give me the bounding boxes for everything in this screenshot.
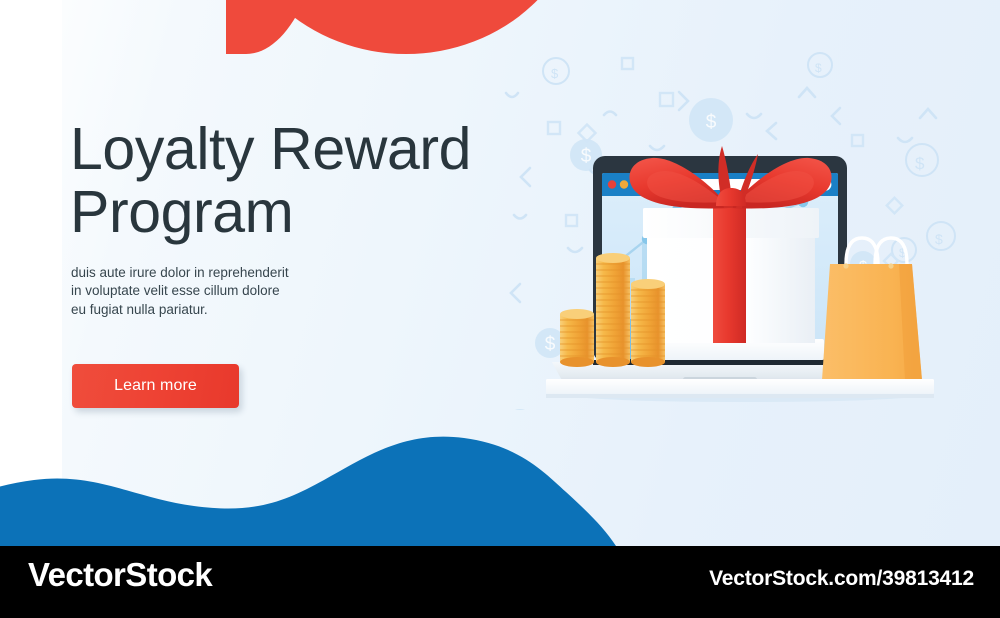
page-title: Loyalty Reward Program (70, 118, 500, 244)
gift-ribbon-vertical (713, 208, 746, 343)
body-line-2: in voluptate velit esse cillum dolore (71, 282, 331, 300)
coin-stack-middle (596, 253, 630, 367)
browser-dot-red (608, 180, 616, 188)
shelf-edge (546, 394, 934, 398)
shelf (546, 379, 934, 398)
svg-text:$: $ (551, 66, 559, 81)
bag-eyelet-right (888, 263, 893, 268)
gift-box (643, 208, 819, 343)
svg-text:$: $ (545, 334, 556, 355)
vectorstock-url: VectorStock.com/39813412 (709, 567, 974, 591)
blue-wave-decoration (0, 436, 1000, 546)
svg-text:$: $ (935, 231, 943, 247)
vectorstock-logo: VectorStock (28, 556, 212, 594)
hero-section: Loyalty Reward Program duis aute irure d… (0, 0, 1000, 546)
body-line-1: duis aute irure dolor in reprehenderit (71, 264, 331, 282)
svg-text:$: $ (581, 146, 592, 167)
coin-stack-right (631, 279, 665, 367)
body-line-3: eu fugiat nulla pariatur. (71, 301, 331, 319)
poster-canvas: Loyalty Reward Program duis aute irure d… (0, 0, 1000, 618)
svg-text:$: $ (815, 61, 822, 75)
headline-line-2: Program (70, 181, 500, 244)
body-copy: duis aute irure dolor in reprehenderit i… (71, 264, 331, 319)
shelf-top (546, 379, 934, 394)
bag-eyelet-left (843, 263, 848, 268)
svg-text:$: $ (706, 112, 717, 133)
red-wave-decoration (228, 0, 584, 54)
loyalty-illustration: $$ $$ $ $ $ $ $ $ $ (500, 50, 970, 410)
browser-dot-yellow (620, 180, 628, 188)
headline-line-1: Loyalty Reward (70, 118, 500, 181)
learn-more-button[interactable]: Learn more (72, 364, 239, 408)
svg-text:$: $ (915, 154, 925, 173)
coin-stack-left (560, 309, 594, 367)
